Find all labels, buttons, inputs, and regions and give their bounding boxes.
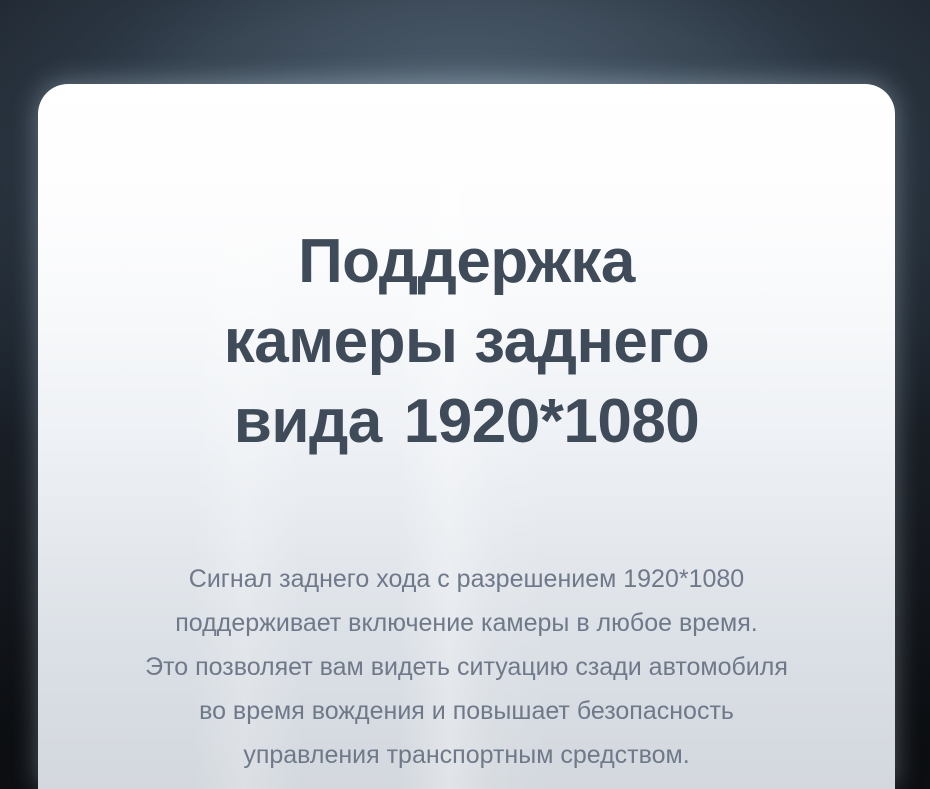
page-title-line-1: Поддержка <box>38 222 895 302</box>
page-title-line-3: вида1920*1080 <box>38 382 895 462</box>
page-title-line-2: камеры заднего <box>38 302 895 382</box>
page-title-resolution: 1920*1080 <box>404 387 699 456</box>
feature-description-line-1: Сигнал заднего хода с разрешением 1920*1… <box>38 557 895 601</box>
feature-description-line-5: управления транспортным средством. <box>38 733 895 777</box>
feature-card: Поддержка камеры заднего вида1920*1080 С… <box>38 84 895 789</box>
page-title-line-3-prefix: вида <box>234 387 382 456</box>
feature-description: Сигнал заднего хода с разрешением 1920*1… <box>38 557 895 777</box>
feature-description-line-4: во время вождения и повышает безопасност… <box>38 689 895 733</box>
feature-description-line-3: Это позволяет вам видеть ситуацию сзади … <box>38 645 895 689</box>
page-title: Поддержка камеры заднего вида1920*1080 <box>38 222 895 462</box>
page-background: Поддержка камеры заднего вида1920*1080 С… <box>0 0 930 789</box>
feature-description-line-2: поддерживает включение камеры в любое вр… <box>38 601 895 645</box>
card-content: Поддержка камеры заднего вида1920*1080 С… <box>38 84 895 789</box>
